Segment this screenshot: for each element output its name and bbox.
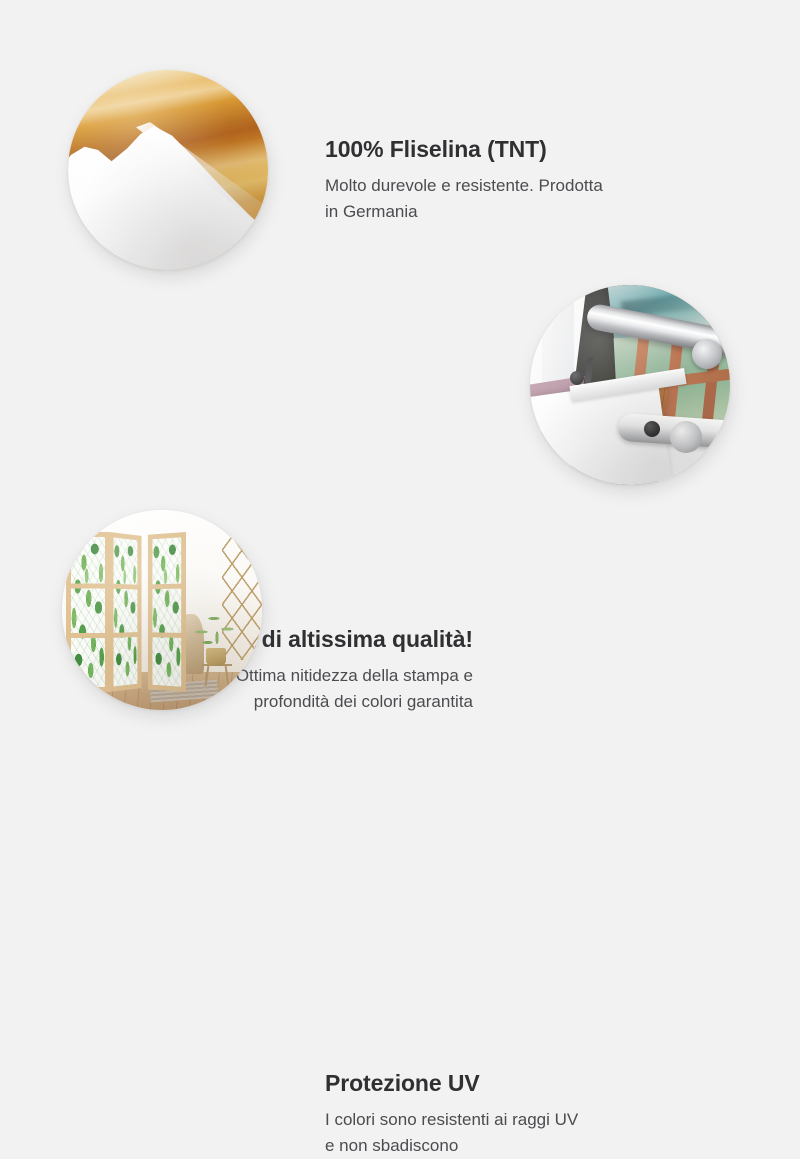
feature-fliselina-body: Molto durevole e resistente. Prodotta in… — [325, 173, 665, 225]
feature-fliselina-copy: 100% Fliselina (TNT) Molto durevole e re… — [325, 134, 665, 225]
feature-fliselina-title: 100% Fliselina (TNT) — [325, 134, 665, 164]
body-line: I colori sono resistenti ai raggi UV — [325, 1107, 665, 1133]
printer-feed-roller-cap — [670, 421, 702, 453]
feature-protezione-uv-title: Protezione UV — [325, 1068, 665, 1098]
tropical-leaf-wallpaper — [153, 537, 182, 686]
roll-illustration — [68, 70, 268, 270]
plant-pot — [206, 648, 226, 666]
feature-fliselina: 100% Fliselina (TNT) Molto durevole e re… — [0, 0, 800, 290]
folding-room-divider — [66, 532, 186, 692]
feature-protezione-uv-body: I colori sono resistenti ai raggi UV e n… — [325, 1107, 665, 1159]
printer-knob — [644, 421, 660, 437]
body-line: in Germania — [325, 199, 665, 225]
room-illustration — [62, 510, 262, 710]
printer-roller-end-cap — [692, 339, 722, 369]
feature-protezione-uv: Protezione UV I colori sono resistenti a… — [0, 500, 800, 730]
room-side-table — [202, 664, 232, 686]
divider-panel — [109, 532, 142, 692]
feature-protezione-uv-copy: Protezione UV I colori sono resistenti a… — [325, 1068, 665, 1159]
wallpaper-roll-peeling-amber-image — [68, 70, 268, 270]
feature-board: 100% Fliselina (TNT) Molto durevole e re… — [0, 0, 800, 800]
feature-stampa-qualita: Stampa di altissima qualità! Ottima niti… — [0, 280, 800, 510]
divider-panel — [66, 532, 110, 692]
body-line: e non sbadiscono — [325, 1133, 665, 1159]
tropical-room-divider-screen-image — [62, 510, 262, 710]
printer-knob — [570, 371, 584, 385]
large-format-printer-image — [530, 285, 730, 485]
printer-illustration — [530, 285, 730, 485]
tropical-leaf-wallpaper — [71, 537, 105, 687]
body-line: Molto durevole e resistente. Prodotta — [325, 173, 665, 199]
divider-panel — [148, 532, 186, 692]
potted-palm-leaves — [190, 606, 242, 654]
tropical-leaf-wallpaper — [114, 538, 138, 687]
